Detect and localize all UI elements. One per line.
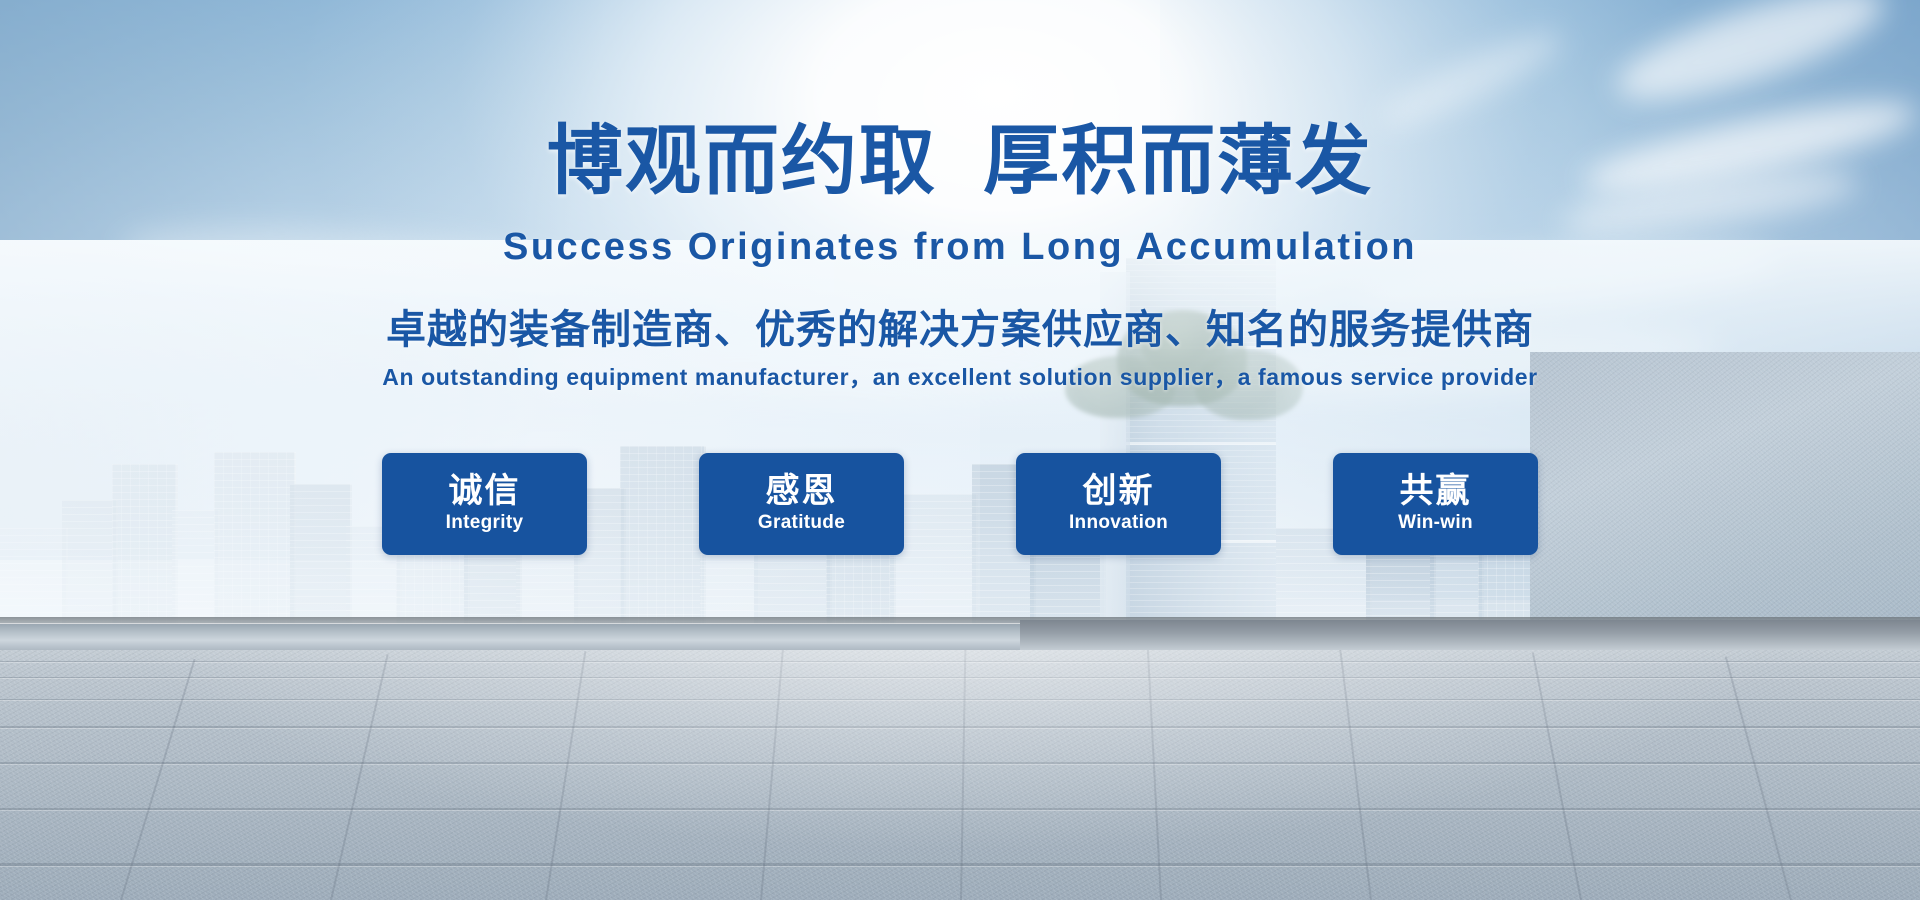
hero-banner: 博观而约取 厚积而薄发 Success Originates from Long… <box>0 0 1920 900</box>
value-box-winwin[interactable]: 共赢 Win-win <box>1333 453 1538 555</box>
value-label-english: Win-win <box>1398 512 1473 534</box>
value-label-english: Innovation <box>1069 512 1168 534</box>
value-label-chinese: 创新 <box>1083 474 1155 510</box>
subheadline-english: An outstanding equipment manufacturer，an… <box>0 366 1920 389</box>
value-box-integrity[interactable]: 诚信 Integrity <box>382 453 587 555</box>
value-label-chinese: 诚信 <box>449 474 521 510</box>
subheadline-chinese: 卓越的装备制造商、优秀的解决方案供应商、知名的服务提供商 <box>0 310 1920 350</box>
value-label-chinese: 共赢 <box>1400 474 1472 510</box>
value-box-innovation[interactable]: 创新 Innovation <box>1016 453 1221 555</box>
banner-content: 博观而约取 厚积而薄发 Success Originates from Long… <box>0 0 1920 900</box>
value-label-chinese: 感恩 <box>766 474 838 510</box>
value-box-gratitude[interactable]: 感恩 Gratitude <box>699 453 904 555</box>
value-label-english: Gratitude <box>758 512 845 534</box>
headline-english: Success Originates from Long Accumulatio… <box>0 228 1920 266</box>
headline-chinese: 博观而约取 厚积而薄发 <box>0 124 1920 200</box>
value-label-english: Integrity <box>446 512 524 534</box>
core-values-list: 诚信 Integrity 感恩 Gratitude 创新 Innovation … <box>0 453 1920 555</box>
